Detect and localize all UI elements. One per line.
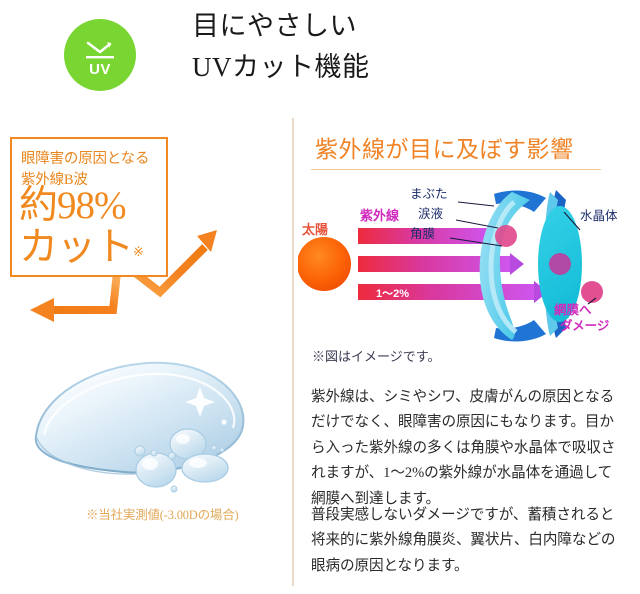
claim-cut-text: カット [19, 226, 133, 269]
body-paragraph-2: 普段実感しないダメージですが、蓄積されると将来的に紫外線角膜炎、翼状片、白内障な… [311, 503, 626, 580]
claim-percent: 約98% [19, 185, 126, 226]
label-retina-damage-2: ダメージ [560, 318, 610, 333]
label-cornea: 角膜 [410, 227, 435, 241]
page-header: UV 目にやさしい UVカット機能 [0, 0, 640, 112]
body-paragraph-1: 紫外線は、シミやシワ、皮膚がんの原因となるだけでなく、眼障害の原因にもなります。… [311, 385, 626, 513]
ray-percent-label: 1〜2% [376, 288, 409, 300]
lens-footnote: ※当社実測値(-3.00Dの場合) [86, 504, 239, 523]
claim-cut-label: カット※ [19, 227, 144, 272]
label-retina-damage: 網膜へ [554, 302, 592, 317]
lens-absorption-dot [549, 253, 571, 275]
claim-line-1: 眼障害の原因となる [21, 147, 149, 168]
uv-cut-claim-box: 眼障害の原因となる 紫外線B波 約98% カット※ [10, 137, 168, 277]
label-eyelid: まぶた [410, 187, 448, 201]
uv-shield-icon: UV [64, 19, 136, 91]
uv-ray-group: 1〜2% [358, 225, 548, 303]
retina-damage-dot [581, 281, 603, 303]
label-sun: 太陽 [301, 222, 328, 237]
page-title: 目にやさしい UVカット機能 [192, 6, 370, 88]
uv-effects-panel: 紫外線が目に及ぼす影響 [292, 112, 640, 594]
uv-cut-claim-panel: 眼障害の原因となる 紫外線B波 約98% カット※ ※当社実測値(-3.00Dの… [0, 112, 292, 594]
cornea-absorption-dot [495, 225, 517, 247]
sun-icon [298, 237, 351, 291]
claim-footnote-mark: ※ [133, 244, 144, 259]
label-tear: 涙液 [418, 206, 444, 221]
label-crystalline-lens: 水晶体 [580, 209, 618, 223]
label-uv: 紫外線 [360, 208, 400, 223]
svg-text:UV: UV [89, 61, 111, 78]
eye-uv-diagram: 1〜2% 太 [298, 178, 634, 350]
contact-lens-illustration [28, 352, 264, 502]
heading-underline [311, 169, 601, 170]
diagram-disclaimer: ※図はイメージです。 [312, 346, 440, 365]
section-heading: 紫外線が目に及ぼす影響 [315, 130, 574, 164]
